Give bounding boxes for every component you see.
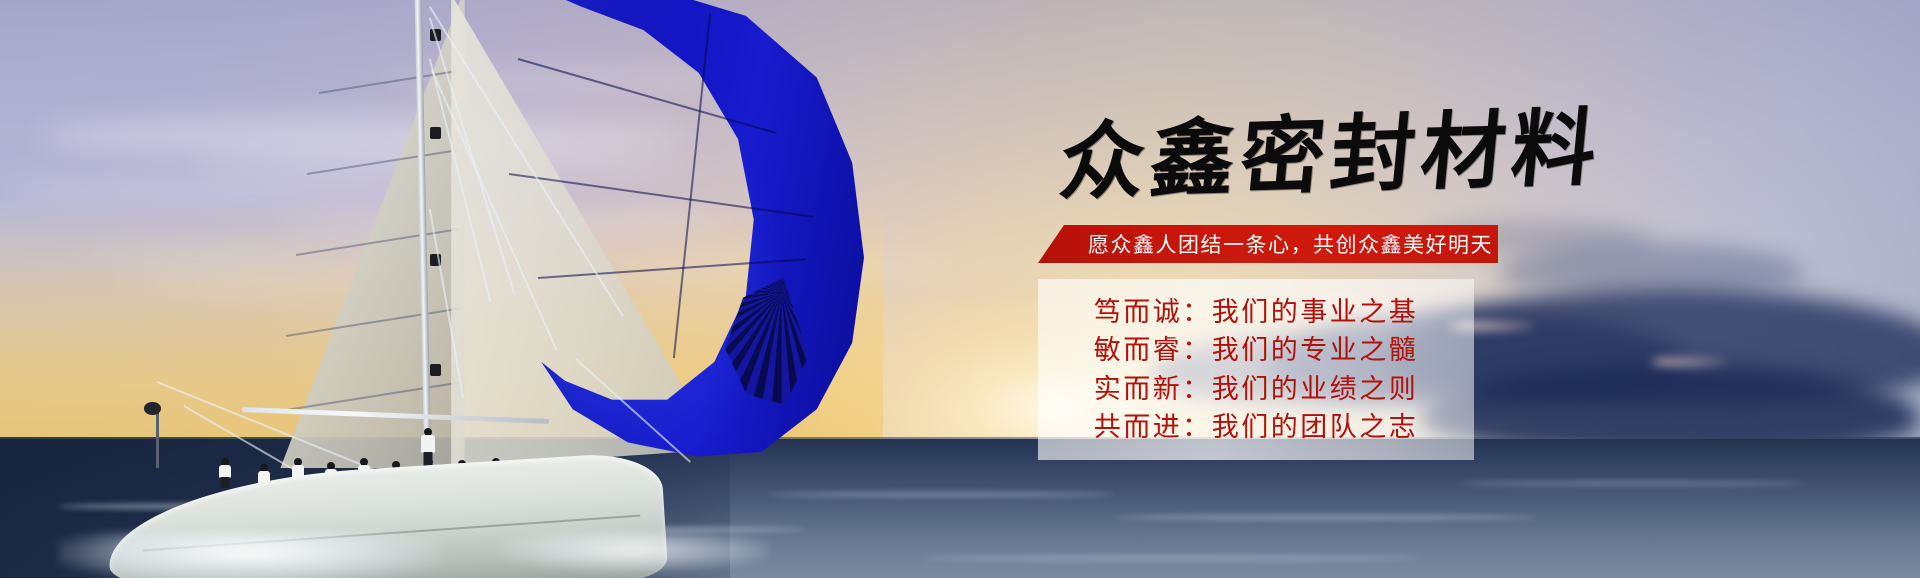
brand-title: 众鑫密封材料 xyxy=(1038,105,1528,207)
slogan-line-3: 实而新：我们的业绩之则 xyxy=(1038,370,1474,408)
mast-fitting xyxy=(430,364,441,376)
wave-crest xyxy=(922,556,1421,561)
crew-member xyxy=(219,458,232,488)
wave-crest xyxy=(1459,481,1805,486)
tagline-banner: 愿众鑫人团结一条心，共创众鑫美好明天 xyxy=(1038,225,1498,263)
crew-legs xyxy=(221,477,230,488)
bow-wake xyxy=(499,532,768,572)
bow-wake xyxy=(58,532,442,578)
slogan-panel: 笃而诚：我们的事业之基 敏而睿：我们的专业之髓 实而新：我们的业绩之则 共而进：… xyxy=(1038,279,1474,460)
mast-fitting xyxy=(430,127,441,139)
slogan-line-2: 敏而睿：我们的专业之髓 xyxy=(1038,331,1474,369)
bow-pole-top xyxy=(144,402,161,415)
crew-body xyxy=(421,435,435,453)
tagline-text: 愿众鑫人团结一条心，共创众鑫美好明天 xyxy=(1088,229,1493,259)
slogan-line-4: 共而进：我们的团队之志 xyxy=(1038,408,1474,446)
hero-banner: 众鑫密封材料 愿众鑫人团结一条心，共创众鑫美好明天 笃而诚：我们的事业之基 敏而… xyxy=(0,0,1920,578)
horizon-line xyxy=(0,437,1920,439)
slogan-line-1: 笃而诚：我们的事业之基 xyxy=(1038,293,1474,331)
bow-pole xyxy=(156,410,159,468)
banner-text-block: 众鑫密封材料 愿众鑫人团结一条心，共创众鑫美好明天 笃而诚：我们的事业之基 敏而… xyxy=(1038,118,1518,460)
